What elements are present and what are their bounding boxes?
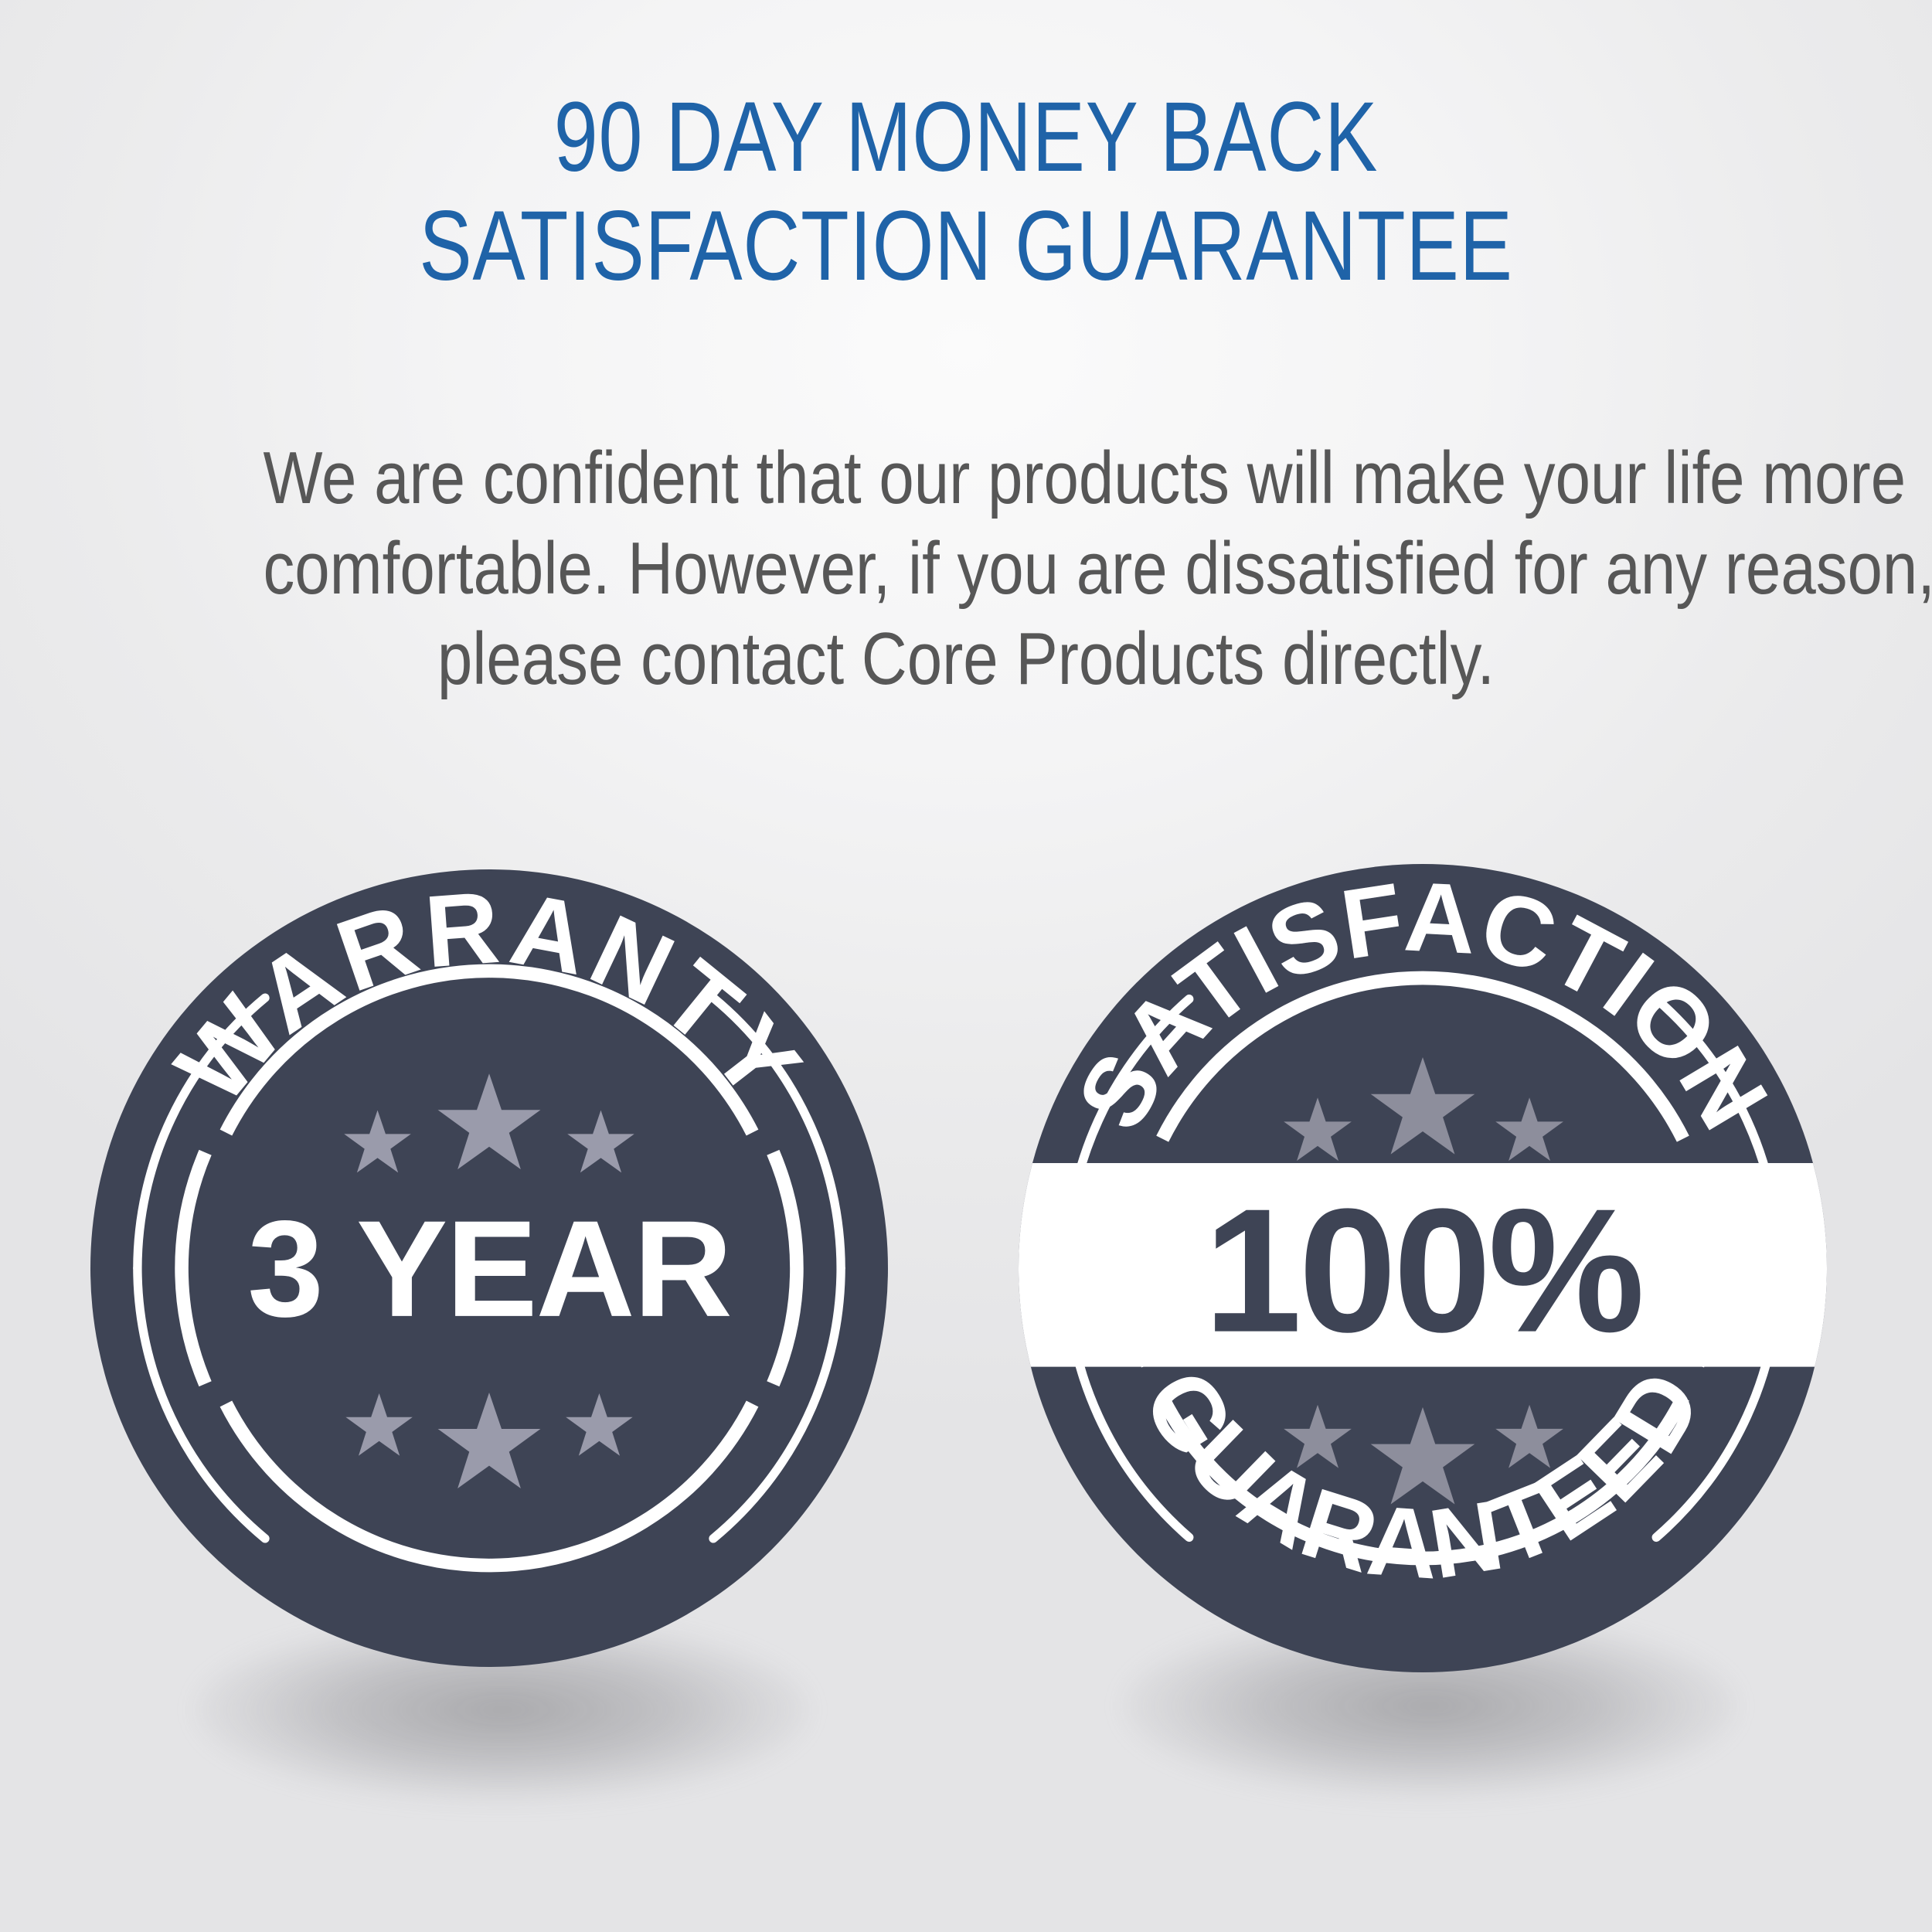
warranty-center-text: 3 YEAR bbox=[247, 1192, 731, 1345]
guarantee-graphic: 90 DAY MONEY BACK SATISFACTION GUARANTEE… bbox=[0, 0, 1932, 1932]
satisfaction-badge: SATISFACTION GUARANTEED bbox=[1019, 864, 1827, 1672]
badge-row: WARRANTY 3 YEAR bbox=[0, 0, 1932, 1932]
satisfaction-band-text: 100% bbox=[1204, 1173, 1641, 1369]
warranty-badge: WARRANTY 3 YEAR bbox=[90, 869, 888, 1667]
